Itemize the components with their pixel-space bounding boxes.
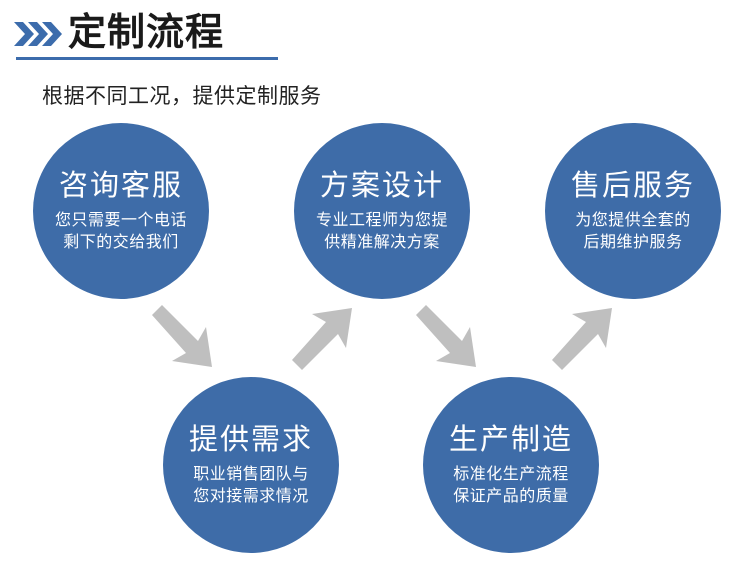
flow-node-desc-line2: 您对接需求情况 [193, 486, 309, 508]
flow-node-desc-line2: 保证产品的质量 [453, 486, 569, 508]
page-header: 定制流程 根据不同工况，提供定制服务 [0, 0, 750, 70]
arrow-up-right-icon [548, 300, 618, 372]
flow-node-title: 方案设计 [320, 168, 444, 204]
flow-node-design[interactable]: 方案设计 专业工程师为您提 供精准解决方案 [294, 123, 470, 299]
flow-node-requirements[interactable]: 提供需求 职业销售团队与 您对接需求情况 [163, 377, 339, 553]
flow-node-desc-line1: 为您提供全套的 [575, 210, 691, 232]
custom-process-infographic: 定制流程 根据不同工况，提供定制服务 咨询客服 您只需要一个电话 剩下的交给我们… [0, 0, 750, 576]
arrow-down-right-icon [412, 303, 482, 373]
page-subtitle: 根据不同工况，提供定制服务 [42, 80, 322, 110]
flow-node-title: 售后服务 [571, 168, 695, 204]
triple-chevron-right-icon [13, 19, 63, 49]
flow-node-desc-line1: 专业工程师为您提 [316, 210, 448, 232]
flow-node-consult[interactable]: 咨询客服 您只需要一个电话 剩下的交给我们 [33, 123, 209, 299]
flow-node-title: 生产制造 [449, 422, 573, 458]
flow-node-desc-line1: 您只需要一个电话 [55, 210, 187, 232]
title-underline [16, 57, 278, 60]
arrow-down-right-icon [148, 303, 218, 373]
flow-node-manufacturing[interactable]: 生产制造 标准化生产流程 保证产品的质量 [423, 377, 599, 553]
page-title: 定制流程 [68, 10, 224, 56]
arrow-up-right-icon [288, 300, 358, 372]
flow-node-after-sales[interactable]: 售后服务 为您提供全套的 后期维护服务 [545, 123, 721, 299]
flow-node-title: 提供需求 [189, 422, 313, 458]
flow-node-desc-line1: 职业销售团队与 [193, 464, 309, 486]
flow-node-desc-line2: 供精准解决方案 [324, 232, 440, 254]
flow-node-title: 咨询客服 [59, 168, 183, 204]
flow-node-desc-line1: 标准化生产流程 [453, 464, 569, 486]
flow-node-desc-line2: 后期维护服务 [583, 232, 682, 254]
flow-node-desc-line2: 剩下的交给我们 [63, 232, 179, 254]
